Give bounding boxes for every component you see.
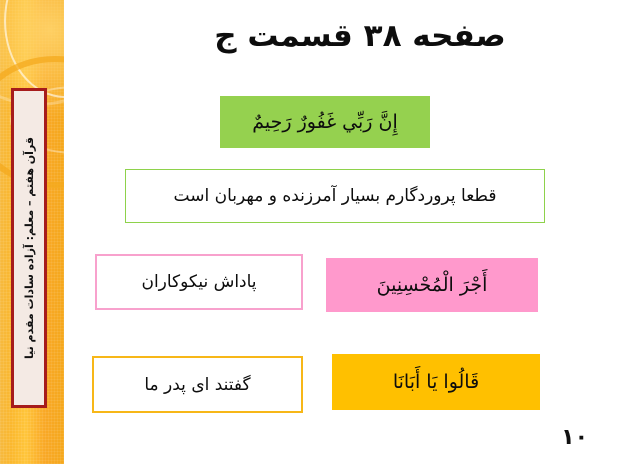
persian-translation-box-2: پاداش نیکوکاران <box>95 254 303 310</box>
persian-translation-box-1: قطعا پروردگارم بسیار آمرزنده و مهربان اس… <box>125 169 545 223</box>
course-teacher-label-text: قرآن هفتم – معلم: آزاده سادات مقدم نیا <box>24 137 35 359</box>
arabic-phrase-box-3: قَالُوا يَا أَبَانَا <box>332 354 540 410</box>
slide-canvas: قرآن هفتم – معلم: آزاده سادات مقدم نیا ص… <box>0 0 618 464</box>
page-title: صفحه ۳۸ قسمت ج <box>120 18 600 54</box>
page-number: ۱۰ <box>561 425 588 450</box>
arabic-phrase-box-1: إِنَّ رَبِّي غَفُورٌ رَحِيمٌ <box>220 96 430 148</box>
course-teacher-label: قرآن هفتم – معلم: آزاده سادات مقدم نیا <box>11 88 47 408</box>
arabic-phrase-box-2: أَجْرَ الْمُحْسِنِينَ <box>326 258 538 312</box>
persian-translation-box-3: گفتند ای پدر ما <box>92 356 303 413</box>
